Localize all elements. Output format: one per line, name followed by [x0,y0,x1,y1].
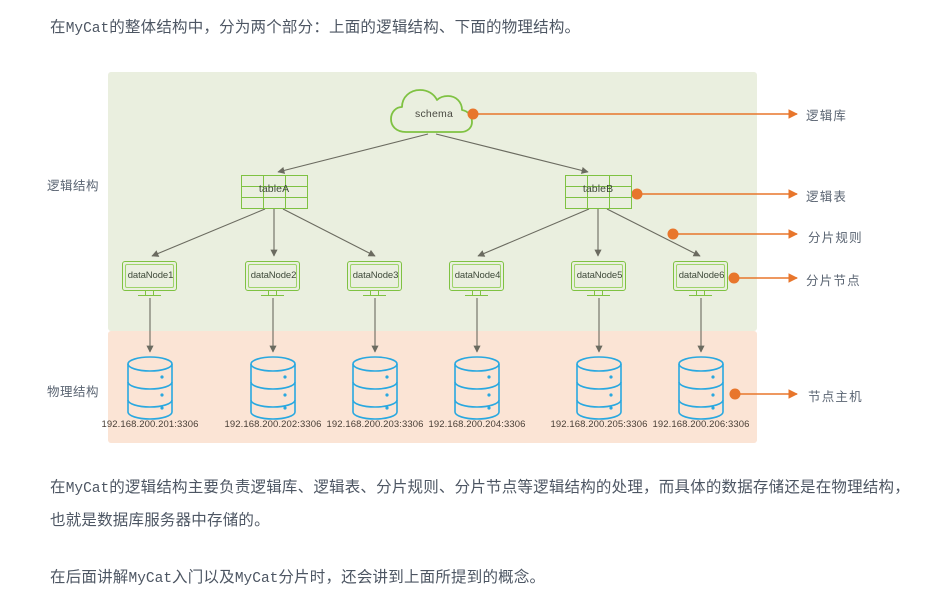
monitor-stand-base [587,295,610,296]
data-node-label: dataNode3 [347,270,404,281]
data-node-label: dataNode5 [571,270,628,281]
table-cell [263,197,286,209]
explanation-text-mycat: MyCat [66,481,110,497]
table-cell [285,197,308,209]
closing-text-post: 分片时，还会讲到上面所提到的概念。 [278,569,545,586]
intro-text-pre: 在 [50,19,66,36]
data-node-label: dataNode2 [245,270,302,281]
monitor-stand-base [689,295,712,296]
intro-paragraph: 在MyCat的整体结构中，分为两个部分：上面的逻辑结构、下面的物理结构。 [50,12,910,45]
table-cell [609,197,632,209]
logical-table-label-tableB: tableB [565,183,631,195]
annotation-label-node-host: 节点主机 [808,386,863,405]
explanation-paragraph: 在MyCat的逻辑结构主要负责逻辑库、逻辑表、分片规则、分片节点等逻辑结构的处理… [50,472,912,536]
closing-text-mycat-2: MyCat [235,571,279,587]
annotation-label-shard-rule: 分片规则 [808,227,863,246]
closing-text-mycat-1: MyCat [129,571,173,587]
explanation-text-post: 的逻辑结构主要负责逻辑库、逻辑表、分片规则、分片节点等逻辑结构的处理，而具体的数… [50,479,910,529]
annotation-label-logical-table: 逻辑表 [806,186,847,205]
data-node-icon-3[interactable]: dataNode3 [347,261,404,299]
intro-text-mycat: MyCat [66,21,110,37]
host-address-label-6: 192.168.200.206:3306 [641,419,761,430]
table-cell [241,197,264,209]
logical-table-label-tableA: tableA [241,183,307,195]
closing-paragraph: 在后面讲解MyCat入门以及MyCat分片时，还会讲到上面所提到的概念。 [50,562,910,595]
annotation-label-shard-node: 分片节点 [806,270,861,289]
data-node-label: dataNode6 [673,270,730,281]
closing-text-mid: 入门以及 [172,569,235,586]
data-node-icon-5[interactable]: dataNode5 [571,261,628,299]
monitor-stand-base [363,295,386,296]
schema-cloud-label: schema [395,108,473,120]
explanation-text-pre: 在 [50,479,66,496]
annotation-label-logical-database: 逻辑库 [806,105,847,124]
host-address-label-1: 192.168.200.201:3306 [90,419,210,430]
intro-text-post: 的整体结构中，分为两个部分：上面的逻辑结构、下面的物理结构。 [109,19,580,36]
section-label-logical-structure: 逻辑结构 [47,175,99,194]
data-node-icon-1[interactable]: dataNode1 [122,261,179,299]
monitor-stand-base [465,295,488,296]
monitor-stand-base [138,295,161,296]
data-node-icon-2[interactable]: dataNode2 [245,261,302,299]
section-label-physical-structure: 物理结构 [47,381,99,400]
monitor-stand-base [261,295,284,296]
host-address-label-4: 192.168.200.204:3306 [417,419,537,430]
data-node-label: dataNode1 [122,270,179,281]
table-cell [587,197,610,209]
data-node-label: dataNode4 [449,270,506,281]
closing-text-pre: 在后面讲解 [50,569,129,586]
data-node-icon-4[interactable]: dataNode4 [449,261,506,299]
data-node-icon-6[interactable]: dataNode6 [673,261,730,299]
table-cell [565,197,588,209]
